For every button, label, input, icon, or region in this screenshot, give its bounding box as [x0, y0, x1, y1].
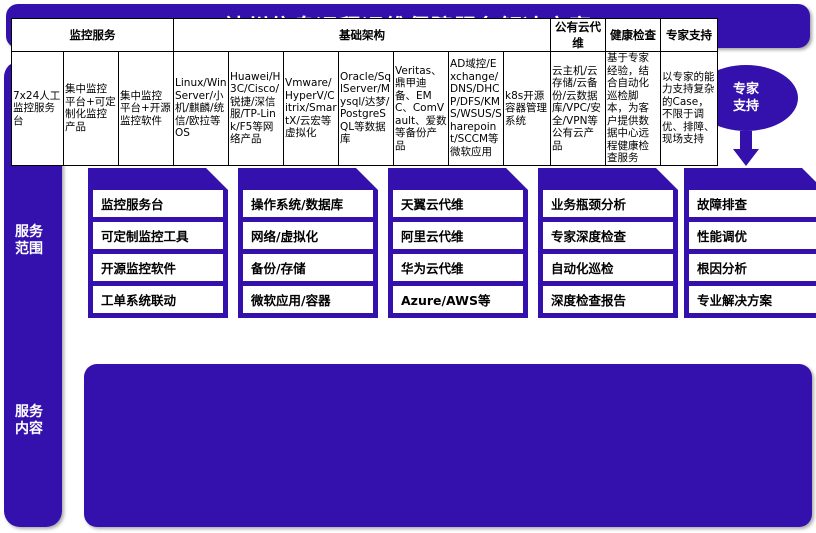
- scope-items-expert-support: 故障排查 性能调优 根因分析 专业解决方案: [684, 168, 816, 318]
- scope-item-public-cloud-0[interactable]: 天翼云代维: [393, 190, 523, 217]
- scope-items-health-check: 业务瓶颈分析 专家深度检查 自动化巡检 深度检查报告: [538, 168, 678, 318]
- scope-item-expert-support-1[interactable]: 性能调优: [689, 222, 816, 249]
- scope-item-public-cloud-1[interactable]: 阿里云代维: [393, 222, 523, 249]
- table-cell-0: 7x24人工监控服务台: [12, 52, 64, 166]
- scope-item-infrastructure-0[interactable]: 操作系统/数据库: [243, 190, 373, 217]
- scope-item-health-check-2[interactable]: 自动化巡检: [543, 254, 673, 281]
- table-cell-12: 以专家的能力支持复杂的Case，不限于调优、排障、现场支持: [661, 52, 718, 166]
- sidebar-item-service-scope: 服务 范围: [0, 224, 58, 258]
- sidebar-item-service-content: 服务 内容: [0, 404, 58, 438]
- scope-item-monitoring-2[interactable]: 开源监控软件: [93, 254, 223, 281]
- scope-item-infrastructure-1[interactable]: 网络/虚拟化: [243, 222, 373, 249]
- service-content-table: 监控服务 基础架构 公有云代维 健康检查 专家支持 7x24人工监控服务台 集中…: [11, 18, 718, 166]
- scope-items-monitoring: 监控服务台 可定制监控工具 开源监控软件 工单系统联动: [88, 168, 228, 318]
- table-row: 7x24人工监控服务台 集中监控平台+可定制化监控产品 集中监控平台+开源监控软…: [12, 52, 718, 166]
- arrow-stem: [740, 131, 752, 150]
- service-type-ellipse-expert-support-line1: 专家: [733, 81, 759, 98]
- table-cell-8: AD域控/Exchange/DNS/DHCP/DFS/KMS/WSUS/Shar…: [449, 52, 504, 166]
- scope-item-infrastructure-3[interactable]: 微软应用/容器: [243, 286, 373, 313]
- scope-item-expert-support-3[interactable]: 专业解决方案: [689, 286, 816, 313]
- arrow-head: [733, 149, 759, 166]
- table-group-header-health-check: 健康检查: [606, 19, 661, 52]
- arrow-down-icon-expert-support: [733, 131, 759, 167]
- sidebar-item-service-content-line1: 服务: [0, 404, 58, 421]
- scope-item-monitoring-1[interactable]: 可定制监控工具: [93, 222, 223, 249]
- table-cell-4: Huawei/H3C/Cisco/锐捷/深信服/TP-Link/F5等网络产品: [229, 52, 284, 166]
- table-cell-5: Vmware/HyperV/Citrix/SmartX/云宏等虚拟化: [284, 52, 339, 166]
- table-group-header-monitoring: 监控服务: [12, 19, 174, 52]
- table-cell-11: 基于专家经验，结合自动化巡检脚本，为客户提供数据中心远程健康检查服务: [606, 52, 661, 166]
- scope-item-health-check-1[interactable]: 专家深度检查: [543, 222, 673, 249]
- scope-items-public-cloud: 天翼云代维 阿里云代维 华为云代维 Azure/AWS等: [388, 168, 528, 318]
- table-cell-3: Linux/WinServer/小机/麒麟/统信/欧拉等OS: [174, 52, 229, 166]
- scope-item-health-check-3[interactable]: 深度检查报告: [543, 286, 673, 313]
- scope-item-expert-support-2[interactable]: 根因分析: [689, 254, 816, 281]
- table-cell-7: Veritas、鼎甲迪备、EMC、ComVault、爱数等备份产品: [394, 52, 449, 166]
- scope-item-health-check-0[interactable]: 业务瓶颈分析: [543, 190, 673, 217]
- table-cell-6: Oracle/SqlServer/Mysql/达梦/PostgreSQL等数据库: [339, 52, 394, 166]
- scope-item-expert-support-0[interactable]: 故障排查: [689, 190, 816, 217]
- table-group-header-public-cloud: 公有云代维: [551, 19, 606, 52]
- table-cell-1: 集中监控平台+可定制化监控产品: [64, 52, 119, 166]
- table-cell-9: k8s开源容器管理系统: [504, 52, 551, 166]
- table-cell-10: 云主机/云存储/云备份/云数据库/VPC/安全/VPN等公有云产品: [551, 52, 606, 166]
- table-cell-2: 集中监控平台+开源监控软件: [119, 52, 174, 166]
- scope-item-monitoring-3[interactable]: 工单系统联动: [93, 286, 223, 313]
- service-type-ellipse-expert-support-line2: 支持: [733, 98, 759, 115]
- scope-items-infrastructure: 操作系统/数据库 网络/虚拟化 备份/存储 微软应用/容器: [238, 168, 378, 318]
- table-group-header-infrastructure: 基础架构: [174, 19, 551, 52]
- scope-item-infrastructure-2[interactable]: 备份/存储: [243, 254, 373, 281]
- table-header-row: 监控服务 基础架构 公有云代维 健康检查 专家支持: [12, 19, 718, 52]
- scope-item-public-cloud-2[interactable]: 华为云代维: [393, 254, 523, 281]
- sidebar-item-service-content-line2: 内容: [0, 421, 58, 438]
- table-group-header-expert-support: 专家支持: [661, 19, 718, 52]
- scope-item-public-cloud-3[interactable]: Azure/AWS等: [393, 286, 523, 313]
- service-content-panel: [84, 364, 812, 527]
- sidebar-item-service-scope-line1: 服务: [0, 224, 58, 241]
- sidebar-item-service-scope-line2: 范围: [0, 241, 58, 258]
- scope-item-monitoring-0[interactable]: 监控服务台: [93, 190, 223, 217]
